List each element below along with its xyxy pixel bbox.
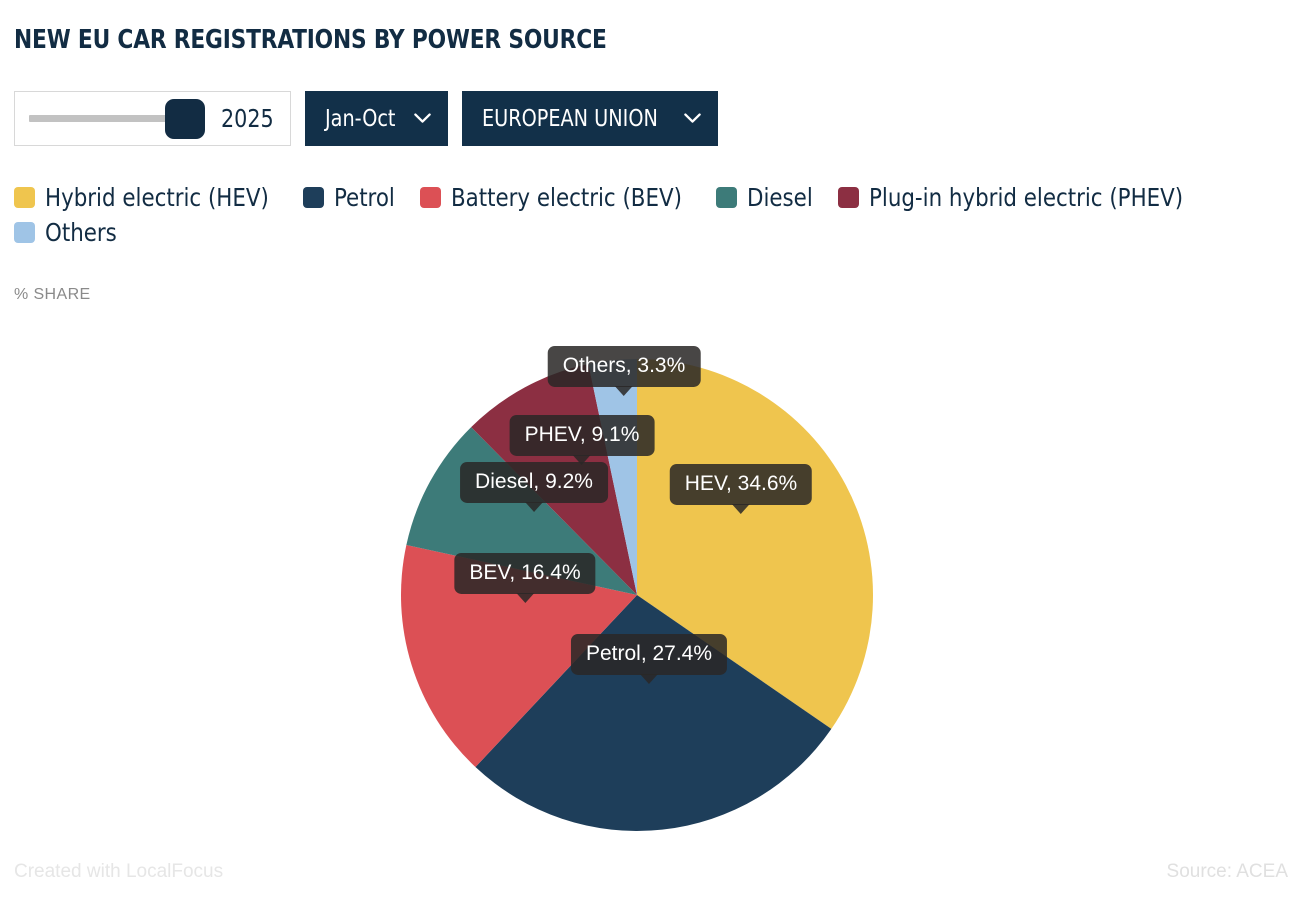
legend-swatch <box>14 222 35 243</box>
chevron-down-icon <box>414 113 431 124</box>
pie-chart-svg <box>0 320 1304 840</box>
source-text: Source: ACEA <box>1167 861 1288 883</box>
legend-swatch <box>303 187 324 208</box>
legend-item-label: Others <box>45 218 117 247</box>
legend-swatch <box>14 187 35 208</box>
credit-text: Created with LocalFocus <box>14 861 223 883</box>
pie-data-label: PHEV, 9.1% <box>510 415 655 456</box>
year-slider-track-wrap[interactable] <box>29 91 207 146</box>
legend-item-label: Diesel <box>747 183 813 212</box>
legend-swatch <box>716 187 737 208</box>
page-title: NEW EU CAR REGISTRATIONS BY POWER SOURCE <box>14 25 607 55</box>
legend-item[interactable]: Others <box>14 218 121 247</box>
legend-item-label: Battery electric (BEV) <box>451 183 682 212</box>
period-dropdown-label: Jan-Oct <box>325 106 395 132</box>
legend-item-label: Hybrid electric (HEV) <box>45 183 269 212</box>
region-dropdown-label: EUROPEAN UNION <box>482 106 658 132</box>
year-slider-value: 2025 <box>221 104 274 133</box>
period-dropdown[interactable]: Jan-Oct <box>305 91 448 146</box>
pie-data-label: Others, 3.3% <box>548 346 701 387</box>
legend-item[interactable]: Petrol <box>303 183 398 212</box>
legend-swatch <box>420 187 441 208</box>
pie-data-label: Diesel, 9.2% <box>460 462 608 503</box>
legend-item[interactable]: Diesel <box>716 183 816 212</box>
legend-item-label: Petrol <box>334 183 395 212</box>
legend-item[interactable]: Hybrid electric (HEV) <box>14 183 281 212</box>
legend-item[interactable]: Plug-in hybrid electric (PHEV) <box>838 183 1200 212</box>
legend-item[interactable]: Battery electric (BEV) <box>420 183 694 212</box>
legend-swatch <box>838 187 859 208</box>
pie-data-label: BEV, 16.4% <box>454 553 595 594</box>
pie-chart: HEV, 34.6%Petrol, 27.4%BEV, 16.4%Diesel,… <box>0 320 1304 840</box>
chart-legend: Hybrid electric (HEV)PetrolBattery elect… <box>14 183 1264 247</box>
legend-item-label: Plug-in hybrid electric (PHEV) <box>869 183 1183 212</box>
year-slider[interactable]: 2025 <box>14 91 291 146</box>
chevron-down-icon <box>684 113 701 124</box>
region-dropdown[interactable]: EUROPEAN UNION <box>462 91 718 146</box>
pie-data-label: Petrol, 27.4% <box>571 634 727 675</box>
year-slider-handle[interactable] <box>165 99 205 139</box>
pie-data-label: HEV, 34.6% <box>670 464 812 505</box>
y-axis-label: % SHARE <box>14 286 91 304</box>
controls-row: 2025 Jan-Oct EUROPEAN UNION <box>14 91 718 146</box>
